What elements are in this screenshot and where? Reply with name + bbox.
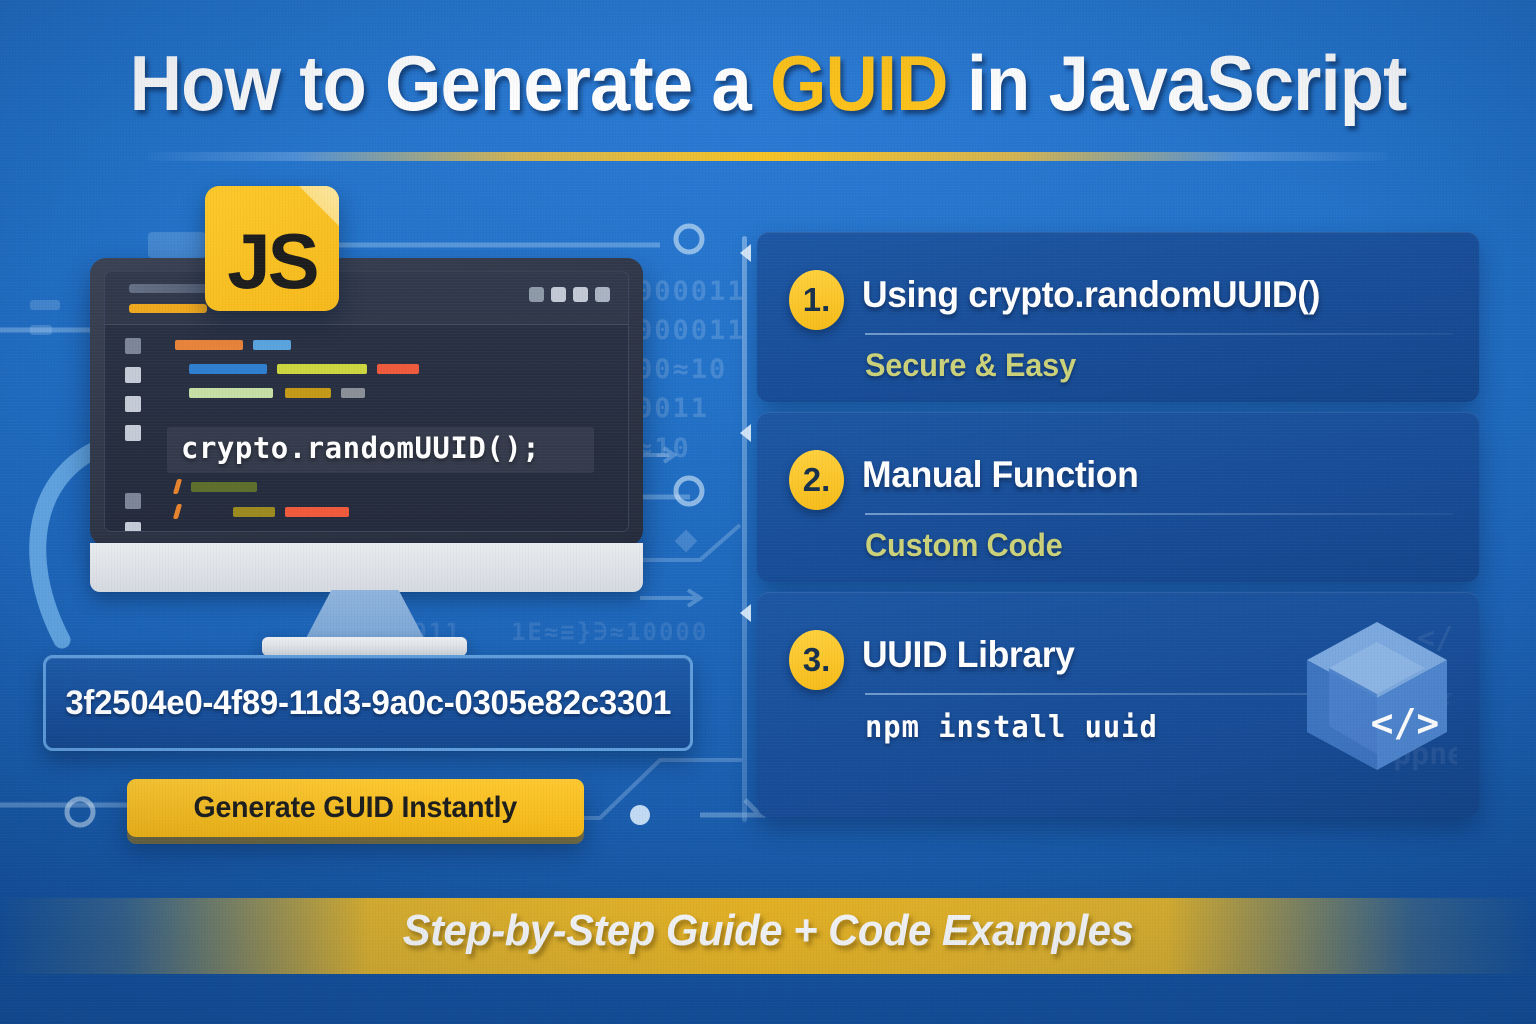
steps-connector-rail (742, 236, 747, 822)
step-title-3: UUID Library (862, 634, 1075, 676)
window-dot-1-icon[interactable] (551, 287, 566, 302)
step-card-1[interactable]: 1. Using crypto.randomUUID() Secure & Ea… (757, 232, 1479, 402)
step-number-badge-1: 1. (789, 270, 844, 330)
step-title-1: Using crypto.randomUUID() (862, 274, 1320, 316)
title-underline (148, 152, 1388, 161)
code-bar (253, 340, 291, 350)
code-bar (377, 364, 419, 374)
step-card-2[interactable]: 2. Manual Function Custom Code (757, 412, 1479, 582)
code-bar (285, 507, 349, 517)
generate-guid-button[interactable]: Generate GUID Instantly (127, 779, 584, 837)
editor-active-tab (129, 304, 207, 313)
generate-guid-button-label: Generate GUID Instantly (194, 791, 517, 825)
step-number-3: 3. (803, 641, 831, 679)
step-title-2: Manual Function (862, 454, 1138, 496)
monitor-illustration: crypto.randomUUID(); (90, 258, 643, 546)
code-bar (233, 507, 275, 517)
js-badge-label: JS (205, 186, 339, 311)
code-bar (175, 340, 243, 350)
step-pip-icon (740, 244, 751, 262)
window-dot-0-icon (529, 287, 544, 302)
page-title: How to Generate a GUID in JavaScript (54, 38, 1482, 129)
window-dot-3-icon[interactable] (595, 287, 610, 302)
step-divider-2 (865, 513, 1453, 515)
monitor-chin (90, 543, 643, 592)
editor-gutter (125, 338, 141, 532)
binary-decoration-right: 000011 000011 00≈10 0011 ≈10 (636, 272, 746, 468)
step-number-badge-3: 3. (789, 630, 844, 690)
monitor-neck (305, 590, 425, 640)
javascript-file-icon: JS (205, 186, 339, 311)
step-number-badge-2: 2. (789, 450, 844, 510)
step-subtitle-3: npm install uuid (865, 710, 1158, 745)
title-post: in JavaScript (948, 39, 1407, 127)
code-bar (189, 364, 267, 374)
title-highlight: GUID (770, 39, 948, 127)
step-number-1: 1. (803, 281, 831, 319)
code-bar (191, 482, 257, 492)
step-subtitle-1: Secure & Easy (865, 347, 1076, 384)
step-pip-icon (740, 604, 751, 622)
guid-value: 3f2504e0-4f89-11d3-9a0c-0305e82c3301 (65, 684, 671, 723)
monitor-base (262, 637, 467, 656)
title-pre: How to Generate a (130, 39, 770, 127)
code-bar (285, 388, 331, 398)
footer-tagline: Step-by-Step Guide + Code Examples (38, 906, 1497, 956)
code-cube-icon: </ tf ppne </> (1297, 614, 1457, 779)
step-pip-icon (740, 424, 751, 442)
code-bar (341, 388, 365, 398)
code-bar (189, 388, 273, 398)
editor-screen: crypto.randomUUID(); (104, 271, 629, 532)
window-dot-2-icon[interactable] (573, 287, 588, 302)
infographic-canvas: 000011 000011 00≈10 0011 ≈10 11→01011 1E… (0, 0, 1536, 1024)
step-card-3[interactable]: 3. UUID Library npm install uuid </ tf p… (757, 592, 1479, 817)
editor-code-line: crypto.randomUUID(); (181, 431, 540, 465)
code-slash-icon (173, 504, 182, 519)
step-subtitle-2: Custom Code (865, 527, 1063, 564)
code-cube-glyph: </> (1371, 701, 1440, 745)
step-divider-1 (865, 333, 1453, 335)
code-bar (277, 364, 367, 374)
step-number-2: 2. (803, 461, 831, 499)
editor-tab-bar (129, 284, 207, 293)
code-slash-icon (173, 479, 182, 494)
editor-titlebar (105, 272, 628, 325)
guid-output-box[interactable]: 3f2504e0-4f89-11d3-9a0c-0305e82c3301 (43, 655, 693, 751)
